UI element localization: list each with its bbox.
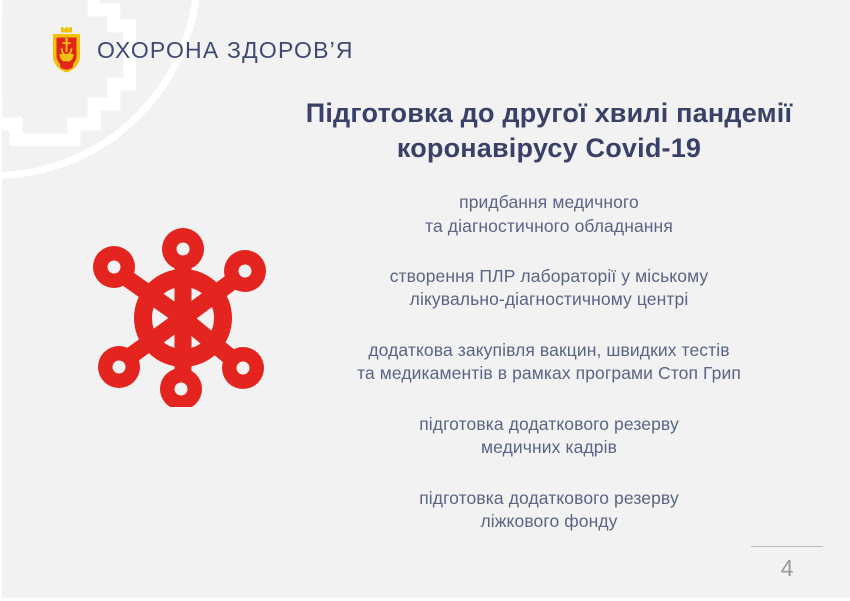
header-title: ОХОРОНА ЗДОРОВ’Я <box>97 37 354 64</box>
header: ОХОРОНА ЗДОРОВ’Я <box>50 27 354 73</box>
slide-canvas: ОХОРОНА ЗДОРОВ’Я <box>0 0 850 601</box>
coronavirus-icon <box>78 222 278 407</box>
page-footer: 4 <box>746 546 828 580</box>
footer-divider <box>751 546 823 547</box>
page-number: 4 <box>746 557 828 580</box>
list-item: створення ПЛР лабораторії у міському лік… <box>282 265 816 312</box>
bullet-list: придбання медичного та діагностичного об… <box>282 191 816 533</box>
mykolaiv-coat-of-arms-icon <box>50 27 83 73</box>
slide-content: Підготовка до другої хвилі пандемії коро… <box>282 96 816 533</box>
page-title: Підготовка до другої хвилі пандемії коро… <box>282 96 816 165</box>
list-item: придбання медичного та діагностичного об… <box>282 191 816 238</box>
list-item: підготовка додаткового резерву ліжкового… <box>282 487 816 534</box>
list-item: підготовка додаткового резерву медичних … <box>282 413 816 460</box>
list-item: додаткова закупівля вакцин, швидких тест… <box>282 339 816 386</box>
medical-cross-watermark <box>0 0 136 146</box>
